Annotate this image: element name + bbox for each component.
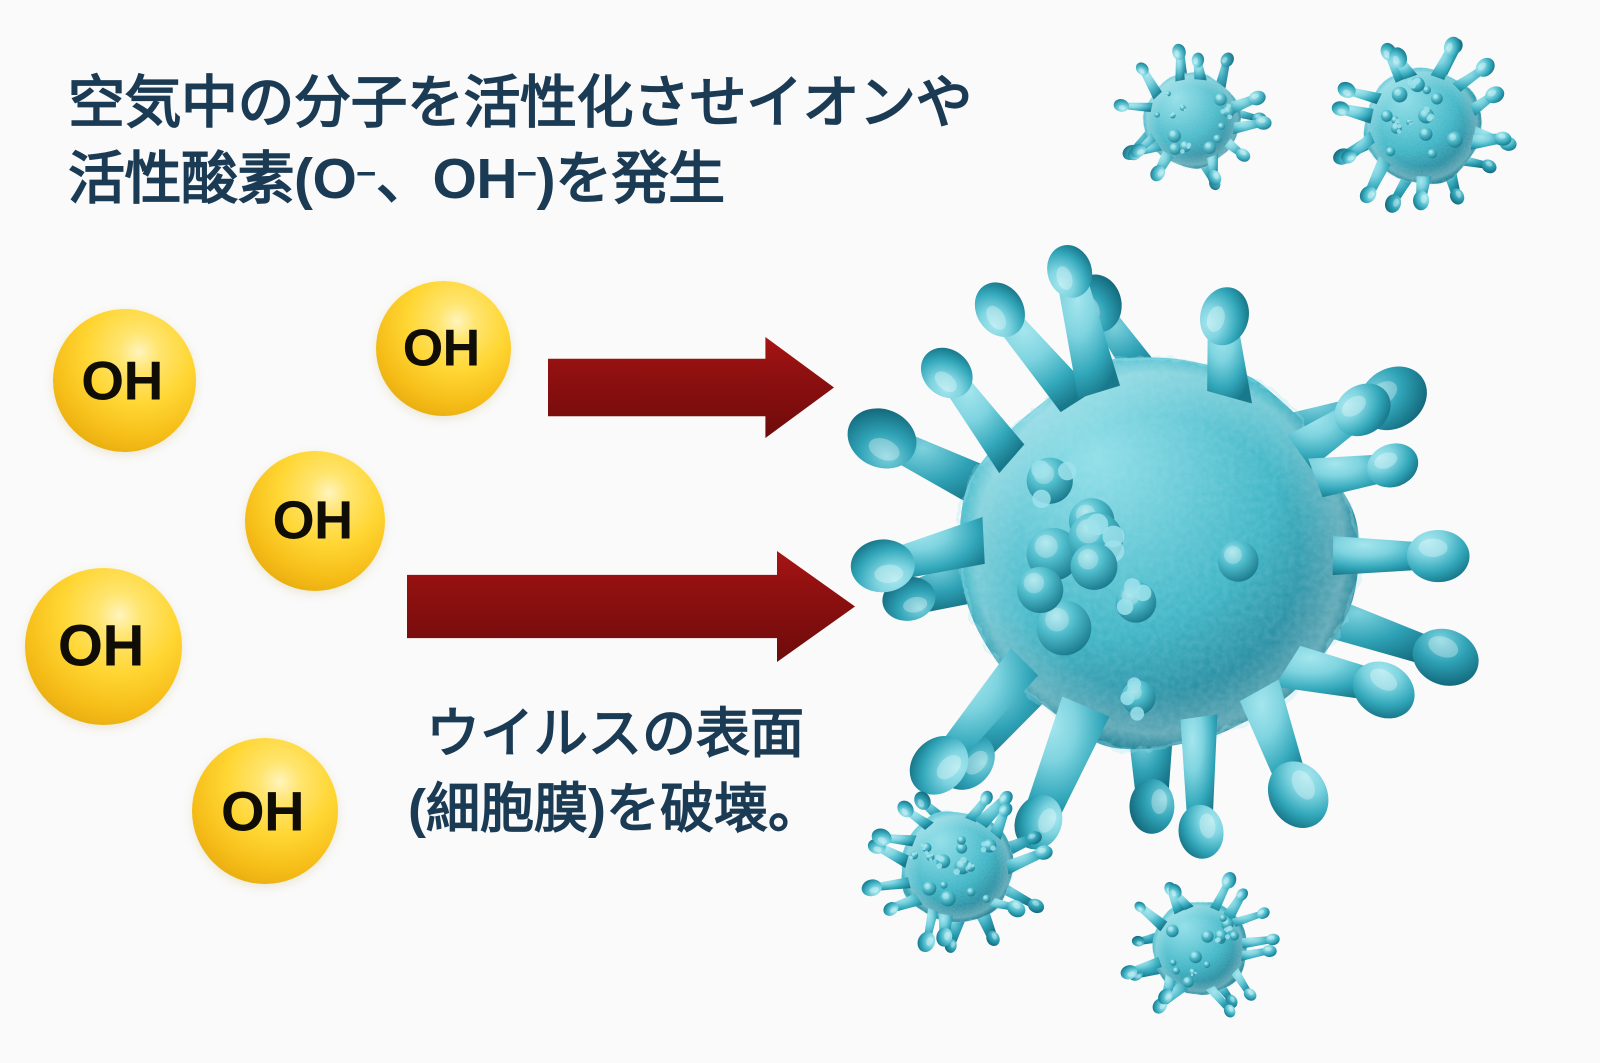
virus-bottom-left [862,772,1052,962]
virus-surface-bump [1431,93,1443,105]
upper-arrow [548,337,834,438]
virus-surface-bump [957,836,966,845]
virus-surface-lobe [1423,106,1429,112]
virus-spike [1242,933,1281,949]
virus-surface-lobe [1227,114,1232,119]
virus-surface-bump [922,881,936,895]
arrow-right-icon [548,337,834,438]
headline-line-1: 空気中の分子を活性化させイオンや [68,66,972,142]
virus-surface-lobe [1127,677,1141,691]
caption-text: ウイルスの表面 (細胞膜)を破壊。 [408,697,822,846]
virus-surface-lobe [1187,143,1191,147]
virus-spike [1224,138,1252,164]
virus-surface-bump [1201,930,1213,942]
virus-surface-lobe [1180,104,1182,106]
virus-surface-bump [1071,543,1118,590]
virus-surface-bump [1169,143,1181,155]
oh-molecule-bubble: OH [25,568,182,725]
oh-molecule-bubble: OH [192,738,338,884]
caption-line-1: ウイルスの表面 [408,697,822,772]
oh-label: OH [81,348,162,412]
headline-line-2-part-b: 、OH [376,147,517,211]
virus-surface-lobe [1427,115,1433,121]
virus-surface-bump [1447,131,1463,147]
virus-surface-bump [1173,967,1180,974]
virus-surface-lobe [990,845,996,851]
superscript-minus-2: – [517,152,537,191]
virus-surface-lobe [1220,109,1225,114]
virus-spike [1132,899,1167,931]
virus-surface-bump [1386,147,1395,156]
virus-surface-lobe [1225,934,1230,939]
virus-surface-lobe [1409,123,1411,125]
virus-surface-bump [940,881,947,888]
virus-surface-bump [940,891,956,907]
oh-molecule-bubble: OH [53,309,196,452]
lower-arrow [407,551,855,662]
virus-surface-bump [1392,87,1408,103]
virus-spike [1240,679,1340,839]
virus-surface-bump [1017,567,1063,613]
virus-spike [915,908,939,955]
superscript-minus-1: – [356,152,376,191]
oh-label: OH [221,778,304,843]
virus-surface-bump [1219,914,1226,921]
virus-surface-lobe [930,853,933,856]
headline-line-2: 活性酸素(O–、OH–)を発生 [68,142,972,218]
virus-surface-lobe [926,854,929,857]
virus-surface-lobe [922,846,926,850]
oh-molecule-bubble: OH [376,281,511,416]
virus-surface-lobe [925,851,929,855]
virus-surface-lobe [1103,526,1125,548]
oh-molecule-bubble: OH [245,451,385,591]
virus-top-right [1325,28,1521,224]
virus-surface-lobe [1170,114,1172,116]
virus-spike [860,877,911,898]
virus-surface-lobe [910,856,913,859]
virus-spike [1230,88,1267,113]
virus-surface-bump [1189,951,1202,964]
virus-surface-lobe [981,847,987,853]
virus-surface-lobe [1191,973,1194,976]
virus-surface-lobe [966,866,969,869]
virus-spike [1330,100,1373,124]
virus-surface-lobe [1216,937,1221,942]
virus-surface-lobe [1393,123,1397,127]
virus-spike [1112,98,1152,114]
virus-surface-lobe [914,852,917,855]
virus-surface-lobe [953,868,959,874]
oh-label: OH [403,318,480,378]
virus-surface-lobe [1172,112,1174,114]
virus-surface-lobe [1130,707,1144,721]
virus-surface-lobe [1120,691,1134,705]
virus-surface-bump [1170,959,1177,966]
virus-surface-bump [1419,127,1432,140]
headline-text: 空気中の分子を活性化させイオンや 活性酸素(O–、OH–)を発生 [68,66,972,218]
virus-spike [881,893,923,918]
virus-surface-bump [1381,110,1393,122]
virus-surface-lobe [1194,972,1197,975]
virus-surface-lobe [1135,585,1152,602]
virus-surface-bump [1218,541,1259,582]
virus-surface-lobe [1410,83,1416,89]
virus-surface-bump [1204,961,1211,968]
virus-surface-lobe [1184,108,1186,110]
virus-surface-lobe [968,862,971,865]
virus-surface-bump [1427,149,1437,159]
virus-spike [1452,54,1498,92]
virus-surface-lobe [929,858,932,861]
virus-surface-bump [1213,134,1221,142]
virus-surface-lobe [1058,462,1076,480]
virus-surface-lobe [1165,92,1167,94]
virus-surface-bump [1183,977,1194,988]
virus-surface-bump [1203,141,1216,154]
virus-spike [1147,151,1173,184]
virus-surface-bump [1166,925,1179,938]
virus-spike [1175,714,1227,862]
virus-surface-lobe [1410,119,1412,121]
virus-surface-lobe [981,841,987,847]
virus-icon [1325,28,1521,224]
virus-surface-lobe [1032,490,1050,508]
virus-surface-lobe [1117,599,1134,616]
virus-surface-bump [1214,93,1227,106]
virus-surface-lobe [1166,95,1168,97]
virus-icon [1112,40,1272,200]
arrow-right-icon [407,551,855,662]
virus-spike [1335,79,1382,104]
virus-surface-lobe [1190,969,1193,972]
virus-surface-lobe [1180,149,1184,153]
virus-surface-bump [1230,931,1239,940]
virus-surface-lobe [1031,460,1049,478]
caption-line-2: (細胞膜)を破壊。 [408,772,822,847]
virus-surface-bump [967,888,976,897]
virus-surface-lobe [971,864,974,867]
oh-label: OH [58,612,144,679]
virus-surface-lobe [937,863,943,869]
virus-icon [862,772,1052,962]
virus-surface-lobe [1414,77,1420,83]
virus-surface-lobe [960,857,966,863]
virus-surface-bump [1168,129,1181,142]
illustration-canvas: 空気中の分子を活性化させイオンや 活性酸素(O–、OH–)を発生 OHOHOHO… [0,0,1600,1063]
virus-surface-bump [982,895,990,903]
virus-icon [1120,868,1280,1028]
virus-bottom-mid [1120,868,1280,1028]
virus-top-left [1112,40,1272,200]
headline-line-2-part-c: )を発生 [537,147,725,211]
virus-spike [1133,60,1162,100]
virus-surface-bump [1154,112,1160,118]
virus-surface-lobe [935,855,941,861]
headline-line-2-part-a: 活性酸素(O [68,147,356,211]
virus-surface-bump [1218,123,1225,130]
oh-label: OH [273,489,353,551]
virus-surface-lobe [1397,124,1401,128]
virus-surface-lobe [1226,104,1231,109]
virus-surface-lobe [1397,129,1401,133]
virus-spike [1356,156,1390,207]
